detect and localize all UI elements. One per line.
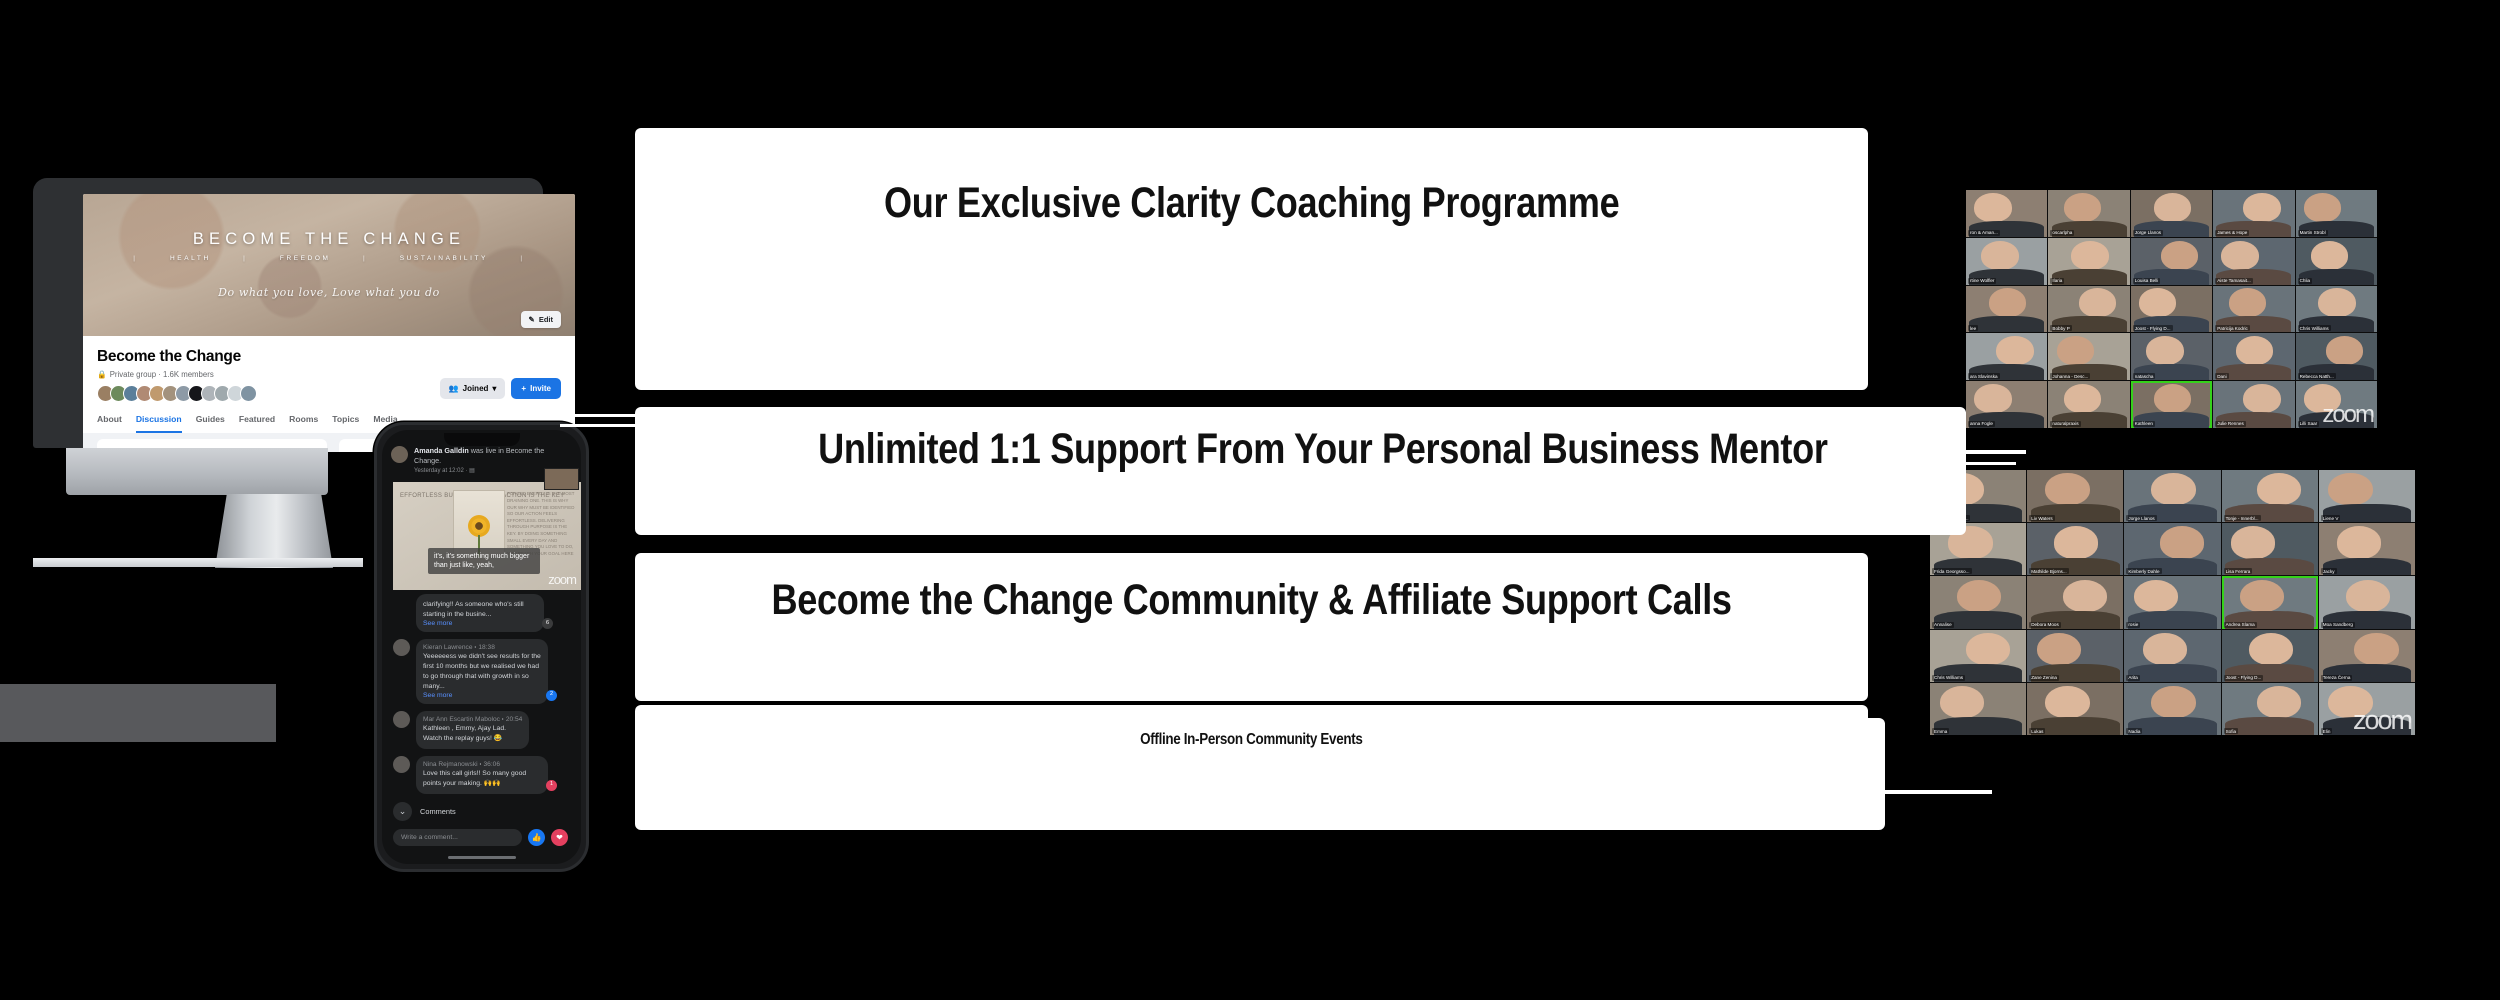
heart-icon[interactable]: ❤	[551, 829, 568, 846]
reaction-badge[interactable]: 1	[546, 780, 557, 791]
participant-name: Mathilde Bjorns...	[2029, 568, 2069, 574]
tab-topics[interactable]: Topics	[332, 414, 359, 433]
zoom-participant-tile[interactable]: James & Hope	[2213, 190, 2294, 237]
participant-name: anna Fogle	[1968, 421, 1995, 427]
participant-name: Julie Rennes	[2215, 421, 2246, 427]
zoom-participant-tile[interactable]: Lisa Ferrara	[2222, 523, 2318, 575]
tab-discussion[interactable]: Discussion	[136, 414, 182, 433]
zoom-participant-tile[interactable]: Rebecca Natth...	[2296, 333, 2377, 380]
participant-name: Patricija Kodric	[2215, 325, 2250, 331]
participant-name: Liene V	[2321, 515, 2341, 521]
group-cover-photo: BECOME THE CHANGE | HEALTH | FREEDOM | S…	[83, 194, 575, 336]
participant-name: Nadia	[2126, 728, 2142, 734]
avatar[interactable]	[393, 639, 410, 656]
post-video[interactable]: EFFORTLESS BUT CONSISTENT ACTION IS THE …	[393, 482, 581, 590]
participant-name: Liv Waters	[2029, 515, 2055, 521]
participant-face	[2154, 384, 2191, 413]
participant-face	[2063, 580, 2107, 612]
zoom-participant-tile[interactable]: Emma	[1930, 683, 2026, 735]
zoom-participant-tile[interactable]: Bobby P	[2048, 286, 2129, 333]
feature-card-offline-events[interactable]: Offline In-Person Community Events	[635, 705, 1868, 810]
zoom-participant-tile[interactable]: Ilaria	[2048, 238, 2129, 285]
participant-name: Elin	[2321, 728, 2333, 734]
zoom-participant-tile[interactable]: Chris Williams	[2296, 286, 2377, 333]
joined-label: Joined	[463, 384, 489, 393]
participant-face	[2304, 193, 2341, 222]
cover-tagline: Do what you love, Love what you do	[83, 286, 575, 299]
mockup-seam	[560, 424, 635, 427]
group-name: Become the Change	[97, 348, 561, 366]
participant-name: ara Slavinska	[1968, 373, 2000, 379]
chevron-down-icon: ⌄	[393, 802, 412, 821]
participant-name: oscarlpha	[2050, 230, 2074, 236]
participant-face	[1981, 241, 2018, 270]
zoom-participant-tile[interactable]: Joost - Flying D...	[2131, 286, 2212, 333]
participant-name: Lilli Saar	[2298, 421, 2320, 427]
participant-name: Moa Sandberg	[2321, 622, 2355, 628]
participant-name: Joost - Flying D...	[2224, 675, 2264, 681]
zoom-participant-tile[interactable]: Aiste Tamasait...	[2213, 238, 2294, 285]
phone-screen: Amanda Galldin was live in Become the Ch…	[382, 430, 581, 864]
zoom-participant-tile[interactable]: Patricija Kodric	[2213, 286, 2294, 333]
participant-name: Chlia	[2298, 278, 2312, 284]
cover-sep-4: |	[520, 255, 524, 262]
participant-name: Aiste Tamasait...	[2215, 278, 2253, 284]
zoom-participant-tile[interactable]: Chlia	[2296, 238, 2377, 285]
cover-pillar-freedom: FREEDOM	[280, 255, 331, 262]
invite-label: Invite	[530, 384, 551, 393]
avatar[interactable]	[393, 756, 410, 773]
participant-face	[1957, 580, 2001, 612]
participant-face	[2231, 526, 2275, 558]
participant-name: Jorge Llanos	[2126, 515, 2156, 521]
comment-author[interactable]: Nina Rejmanowski · 36:06	[423, 761, 541, 768]
participant-face	[1989, 288, 2026, 317]
zoom-participant-tile[interactable]: Kimberly Dahle	[2124, 523, 2220, 575]
participant-name: Martin Strobl	[2298, 230, 2328, 236]
participant-face	[2154, 193, 2191, 222]
participant-name: Joost - Flying D...	[2133, 325, 2173, 331]
zoom-participant-tile[interactable]: Jorge Llanos	[2131, 190, 2212, 237]
cover-pillar-health: HEALTH	[170, 255, 211, 262]
participant-face	[2240, 580, 2284, 612]
zoom-participant-tile[interactable]: lee	[1966, 286, 2047, 333]
participant-name: Annalise	[1932, 622, 1954, 628]
zoom-participant-tile[interactable]: rtine Wolfler	[1966, 238, 2047, 285]
participant-name: Lukas	[2029, 728, 2045, 734]
comment-author-name: Nina Rejmanowski	[423, 761, 478, 768]
zoom-participant-tile[interactable]: ara Slavinska	[1966, 333, 2047, 380]
see-more-link[interactable]: See more	[423, 620, 537, 627]
zoom-participant-tile[interactable]: Jorge Llanos	[2124, 470, 2220, 522]
participant-body	[2128, 664, 2217, 682]
mockup-seam	[560, 414, 635, 417]
participant-face	[2243, 193, 2280, 222]
post-author-name[interactable]: Amanda Galldin	[414, 446, 469, 455]
sunflower-icon	[468, 515, 490, 537]
feature-card-label: Our Exclusive Clarity Coaching Programme	[884, 179, 1619, 228]
zoom-participant-tile[interactable]: Jacky	[2319, 523, 2415, 575]
comment-author[interactable]: Kieran Lawrence · 18:38	[423, 644, 541, 651]
participant-face	[2318, 288, 2355, 317]
participant-face	[2346, 580, 2390, 612]
cover-title: BECOME THE CHANGE	[83, 230, 575, 249]
list-item: clarifying!! As someone who's still star…	[391, 594, 572, 632]
participant-face	[2057, 336, 2094, 365]
comment-composer: Write a comment... 👍 ❤	[393, 829, 568, 846]
invite-button[interactable]: + Invite	[511, 378, 561, 399]
cover-sep-2: |	[243, 255, 247, 262]
zoom-participant-tile[interactable]: Lukas	[2027, 683, 2123, 735]
participant-face	[2236, 336, 2273, 365]
comment-author-name: Mar Ann Escartin Maboloc	[423, 716, 500, 723]
participant-face	[2146, 336, 2183, 365]
participant-name: naturalpraxis	[2050, 421, 2080, 427]
imac-screen: BECOME THE CHANGE | HEALTH | FREEDOM | S…	[83, 194, 575, 452]
feature-card-community-calls[interactable]: Become the Change Community & Affiliate …	[635, 553, 1868, 701]
tab-guides[interactable]: Guides	[196, 414, 225, 433]
participant-face	[2354, 633, 2398, 665]
participant-name: Zane Zenina	[2029, 675, 2059, 681]
zoom-participant-tile[interactable]: Sofia	[2222, 683, 2318, 735]
participant-name: Tereza Černa	[2321, 675, 2353, 681]
group-actions: 👥 Joined ▾ + Invite	[440, 378, 561, 399]
thumbs-up-icon[interactable]: 👍	[528, 829, 545, 846]
tab-featured[interactable]: Featured	[239, 414, 275, 433]
feature-card-label: Offline In-Person Community Events	[1140, 731, 1362, 749]
background-gray-band	[0, 684, 276, 742]
avatar[interactable]	[393, 711, 410, 728]
post-byline: Amanda Galldin was live in Become the Ch…	[414, 446, 572, 465]
participant-name: Arita	[2126, 675, 2139, 681]
zoom-participant-tile[interactable]: Martin Strobl	[2296, 190, 2377, 237]
tab-about[interactable]: About	[97, 414, 122, 433]
comment-time: 18:38	[478, 644, 495, 651]
participant-name: Jorge Llanos	[2133, 230, 2163, 236]
comment-author[interactable]: Mar Ann Escartin Maboloc · 20:54	[423, 716, 522, 723]
zoom-participant-tile[interactable]: rosie	[2124, 576, 2220, 628]
home-indicator	[448, 856, 516, 859]
feature-card-mentor-support[interactable]: Unlimited 1:1 Support From Your Personal…	[635, 407, 1966, 535]
participant-body	[2225, 717, 2314, 735]
comment-body: clarifying!! As someone who's still star…	[423, 600, 537, 620]
zoom-participant-tile[interactable]: ron & Aman...	[1966, 190, 2047, 237]
feature-card-label: Become the Change Community & Affiliate …	[771, 576, 1731, 625]
participant-name: Chris Williams	[1932, 675, 1965, 681]
comment-body: Kathleen , Emmy, Ajay Lad.	[423, 724, 522, 734]
participant-name: Jacky	[2321, 568, 2337, 574]
participant-name: Andrea Slama	[2224, 622, 2257, 628]
pencil-icon: ✎	[529, 315, 535, 324]
zoom-participant-tile[interactable]: naturalpraxis	[2048, 381, 2129, 428]
comment-body-2: Watch the replay guys! 😂	[423, 734, 522, 744]
zoom-participant-tile[interactable]: Louisa Belli	[2131, 238, 2212, 285]
participant-face	[2045, 473, 2089, 505]
participant-name: Johanna - Desc...	[2050, 373, 2090, 379]
participant-name: Kimberly Dahle	[2126, 568, 2161, 574]
zoom-participant-tile[interactable]: natascha	[2131, 333, 2212, 380]
participant-face	[1966, 633, 2010, 665]
participant-face	[2037, 633, 2081, 665]
participant-face	[1974, 193, 2011, 222]
participant-face	[2071, 241, 2108, 270]
zoom-participant-tile[interactable]: Liv Waters	[2027, 470, 2123, 522]
cover-pillar-sustainability: SUSTAINABILITY	[400, 255, 488, 262]
list-item: Nina Rejmanowski · 36:06 Love this call …	[391, 756, 572, 794]
comment-bubble: Nina Rejmanowski · 36:06 Love this call …	[416, 756, 548, 794]
reaction-badge[interactable]: 2	[546, 690, 557, 701]
feature-card-label: Unlimited 1:1 Support From Your Personal…	[818, 425, 1827, 474]
zoom-participant-tile[interactable]: oscarlpha	[2048, 190, 2129, 237]
post-author-avatar[interactable]	[391, 446, 408, 463]
zoom-participant-tile[interactable]: Mathilde Bjorns...	[2027, 523, 2123, 575]
zoom-participant-tile[interactable]: Dani	[2213, 333, 2294, 380]
participant-face	[2143, 633, 2187, 665]
avatar	[240, 385, 257, 402]
participant-name: Lisa Ferrara	[2224, 568, 2253, 574]
participant-name: ron & Aman...	[1968, 230, 2000, 236]
zoom-participant-tile[interactable]: Moa Sandberg	[2319, 576, 2415, 628]
participant-name: Bobby P	[2050, 325, 2071, 331]
zoom-participant-tile[interactable]: Annalise	[1930, 576, 2026, 628]
participant-name: Sofia	[2224, 728, 2238, 734]
comment-author-name: Kieran Lawrence	[423, 644, 472, 651]
phone-mockup: Amanda Galldin was live in Become the Ch…	[374, 422, 589, 872]
participant-face	[1996, 336, 2033, 365]
list-item: Mar Ann Escartin Maboloc · 20:54 Kathlee…	[391, 711, 572, 750]
comments-toggle-label: Comments	[420, 807, 456, 816]
group-info: Become the Change 🔒 Private group · 1.6K…	[83, 336, 575, 402]
zoom-participant-tile[interactable]: anna Fogle	[1966, 381, 2047, 428]
zoom-watermark: zoom	[2353, 707, 2411, 734]
participant-face	[2257, 473, 2301, 505]
edit-cover-label: Edit	[539, 315, 553, 324]
audience-icon: · ▤	[466, 468, 475, 474]
comment-input[interactable]: Write a comment...	[393, 829, 522, 846]
comment-body: Yeeeeeess we didn't see results for the …	[423, 652, 541, 691]
zoom-participant-tile[interactable]: Liene V	[2319, 470, 2415, 522]
zoom-participant-tile[interactable]: Chris Williams	[1930, 630, 2026, 682]
zoom-participant-tile[interactable]: Kathleen	[2131, 381, 2212, 428]
participant-name: natascha	[2133, 373, 2156, 379]
mockup-seam	[1866, 462, 2016, 465]
joined-button[interactable]: 👥 Joined ▾	[440, 378, 506, 399]
list-item: Kieran Lawrence · 18:38 Yeeeeeess we did…	[391, 639, 572, 703]
participant-name: Debora Moos	[2029, 622, 2061, 628]
participant-name: Rebecca Natth...	[2298, 373, 2336, 379]
participant-face	[2160, 526, 2204, 558]
reaction-badge[interactable]: 6	[542, 618, 553, 629]
zoom-participant-tile[interactable]: Nadia	[2124, 683, 2220, 735]
feature-card-clarity-coaching[interactable]: Our Exclusive Clarity Coaching Programme	[635, 128, 1868, 390]
zoom-watermark: zoom	[548, 572, 576, 587]
participant-name: Emma	[1932, 728, 1949, 734]
comment-body: Love this call girls!! So many good poin…	[423, 769, 541, 789]
participant-face	[2328, 473, 2372, 505]
zoom-watermark: zoom	[2322, 403, 2373, 427]
zoom-participant-tile[interactable]: Tereza Černa	[2319, 630, 2415, 682]
participant-face	[2311, 241, 2348, 270]
lock-icon: 🔒	[97, 370, 107, 379]
participant-face	[2134, 580, 2178, 612]
plus-icon: +	[521, 384, 526, 393]
post-time-label: Yesterday at 12:02	[414, 468, 464, 474]
participant-name: rosie	[2126, 622, 2140, 628]
participant-name: Ilaria	[2050, 278, 2064, 284]
participant-face	[2337, 526, 2381, 558]
edit-cover-button[interactable]: ✎ Edit	[521, 311, 561, 328]
imac-stand	[215, 494, 333, 568]
participant-face	[2064, 384, 2101, 413]
participant-face	[2079, 288, 2116, 317]
zoom-participant-tile[interactable]: Tonje - Innerbl...	[2222, 470, 2318, 522]
participant-face	[2161, 241, 2198, 270]
zoom-participant-tile[interactable]: Zane Zenina	[2027, 630, 2123, 682]
participant-face	[2139, 288, 2176, 317]
participant-face	[2151, 686, 2195, 718]
participant-face	[2243, 384, 2280, 413]
cover-sep-1: |	[133, 255, 137, 262]
comment-time: 20:54	[506, 716, 523, 723]
participant-body	[1969, 316, 2044, 332]
participant-face	[2054, 526, 2098, 558]
group-meta-label: Private group · 1.6K members	[110, 370, 214, 379]
participant-face	[1940, 686, 1984, 718]
imac-foot	[33, 558, 363, 567]
zoom-participant-tile[interactable]: Arita	[2124, 630, 2220, 682]
phone-notch	[444, 433, 520, 446]
zoom-call-grid-bottom: zoom Kieron & Aman...Liv WatersJorge Lla…	[1930, 470, 2415, 735]
comment-bubble: Kieran Lawrence · 18:38 Yeeeeeess we did…	[416, 639, 548, 703]
participant-name: Kathleen	[2133, 421, 2155, 427]
participant-name: Frida Georgsso...	[1932, 568, 1972, 574]
mockup-seam	[1866, 790, 1992, 794]
participant-name: Tonje - Innerbl...	[2224, 515, 2261, 521]
participant-face	[2045, 686, 2089, 718]
participant-name: Louisa Belli	[2133, 278, 2161, 284]
zoom-participant-tile[interactable]: Andrea Slama	[2222, 576, 2318, 628]
participant-face	[2151, 473, 2195, 505]
participant-name: Dani	[2215, 373, 2228, 379]
zoom-participant-tile[interactable]: Joost - Flying D...	[2222, 630, 2318, 682]
see-more-link[interactable]: See more	[423, 692, 541, 699]
cover-pillars: | HEALTH | FREEDOM | SUSTAINABILITY |	[83, 255, 575, 262]
chevron-down-icon: ▾	[492, 384, 496, 393]
imac-chin	[66, 448, 328, 495]
participant-face	[2249, 633, 2293, 665]
participant-name: James & Hope	[2215, 230, 2249, 236]
cover-sep-3: |	[363, 255, 367, 262]
participant-name: rtine Wolfler	[1968, 278, 1996, 284]
mockup-seam	[1866, 450, 2026, 454]
zoom-participant-tile[interactable]: Johanna - Desc...	[2048, 333, 2129, 380]
participant-body	[2128, 611, 2217, 629]
participant-face	[2257, 686, 2301, 718]
participant-face	[1974, 384, 2011, 413]
video-pip-thumbnail	[544, 468, 579, 490]
comments-toggle[interactable]: ⌄ Comments	[393, 802, 570, 821]
people-icon: 👥	[449, 384, 459, 393]
tab-rooms[interactable]: Rooms	[289, 414, 318, 433]
participant-face	[2064, 193, 2101, 222]
video-caption: it's, it's something much bigger than ju…	[428, 548, 540, 574]
participant-face	[2326, 336, 2363, 365]
zoom-participant-tile[interactable]: Debora Moos	[2027, 576, 2123, 628]
participant-face	[2221, 241, 2258, 270]
truncated-comment: clarifying!! As someone who's still star…	[416, 594, 544, 632]
participant-name: lee	[1968, 325, 1978, 331]
participant-name: Chris Williams	[2298, 325, 2331, 331]
zoom-participant-tile[interactable]: Julie Rennes	[2213, 381, 2294, 428]
comment-bubble: Mar Ann Escartin Maboloc · 20:54 Kathlee…	[416, 711, 529, 750]
zoom-call-grid-top: zoom ron & Aman...oscarlphaJorge LlanosJ…	[1966, 190, 2377, 428]
comment-time: 36:06	[483, 761, 500, 768]
participant-face	[2229, 288, 2266, 317]
post-action: was live in	[469, 446, 506, 455]
apple-logo-icon	[287, 459, 302, 477]
